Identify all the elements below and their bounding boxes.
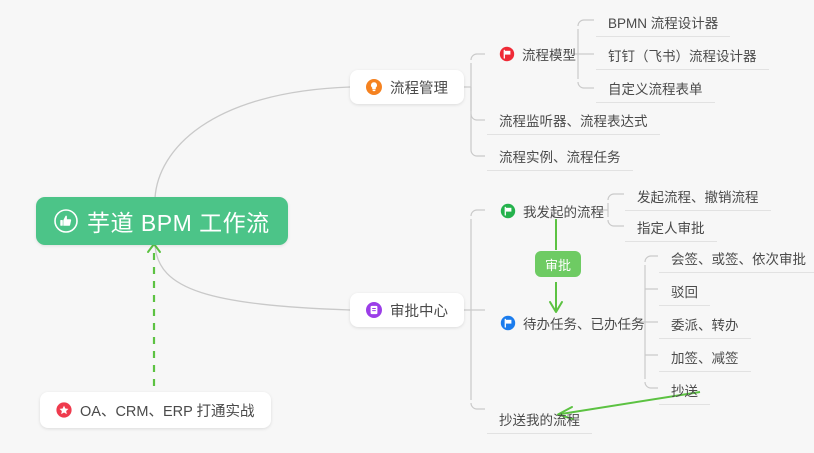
thumbs-up-icon (54, 209, 78, 233)
clipboard-icon (366, 302, 382, 318)
node-todo-done-tasks[interactable]: 待办任务、已办任务 (488, 308, 657, 338)
leaf-label: 钉钉（飞书）流程设计器 (608, 45, 757, 65)
node-label: 我发起的流程 (523, 201, 604, 221)
leaf-cc[interactable]: 抄送 (659, 375, 710, 405)
floating-node-label: OA、CRM、ERP 打通实战 (80, 400, 255, 421)
leaf-add-remove-sign[interactable]: 加签、减签 (659, 342, 751, 372)
flag-icon (500, 203, 516, 219)
node-process-instance[interactable]: 流程实例、流程任务 (487, 141, 633, 171)
node-label: 流程模型 (522, 44, 576, 64)
mindmap-canvas: 芋道 BPM 工作流 流程管理 流程模型 BPMN 流程设计器 钉钉（飞书）流程… (0, 0, 814, 453)
leaf-delegate-transfer[interactable]: 委派、转办 (659, 309, 751, 339)
leaf-start-cancel-process[interactable]: 发起流程、撤销流程 (625, 181, 771, 211)
floating-node-oa-crm-erp[interactable]: OA、CRM、ERP 打通实战 (40, 392, 271, 428)
badge-label: 审批 (545, 255, 571, 274)
leaf-countersign[interactable]: 会签、或签、依次审批 (659, 243, 814, 273)
leaf-label: 加签、减签 (671, 347, 739, 367)
node-process-model[interactable]: 流程模型 (487, 39, 588, 69)
leaf-custom-form[interactable]: 自定义流程表单 (596, 73, 715, 103)
node-label: 待办任务、已办任务 (523, 313, 645, 333)
flag-icon (499, 46, 515, 62)
flag-icon (500, 315, 516, 331)
leaf-label: 驳回 (671, 281, 698, 301)
node-cc-to-me[interactable]: 抄送我的流程 (487, 404, 592, 434)
leaf-label: 自定义流程表单 (608, 78, 703, 98)
leaf-assigned-approval[interactable]: 指定人审批 (625, 212, 717, 242)
leaf-label: BPMN 流程设计器 (608, 12, 718, 32)
branch-node-process-management[interactable]: 流程管理 (350, 70, 464, 104)
star-icon (56, 402, 72, 418)
leaf-label: 抄送 (671, 380, 698, 400)
lightbulb-icon (366, 79, 382, 95)
leaf-label: 会签、或签、依次审批 (671, 248, 806, 268)
leaf-reject[interactable]: 驳回 (659, 276, 710, 306)
leaf-label: 指定人审批 (637, 217, 705, 237)
node-label: 流程监听器、流程表达式 (499, 110, 648, 130)
leaf-bpmn-designer[interactable]: BPMN 流程设计器 (596, 7, 730, 37)
branch-node-approval-center[interactable]: 审批中心 (350, 293, 464, 327)
root-label: 芋道 BPM 工作流 (87, 204, 270, 238)
node-label: 流程实例、流程任务 (499, 146, 621, 166)
node-my-initiated[interactable]: 我发起的流程 (488, 196, 616, 226)
leaf-label: 委派、转办 (671, 314, 739, 334)
branch-label: 审批中心 (390, 300, 448, 321)
node-process-listener[interactable]: 流程监听器、流程表达式 (487, 105, 660, 135)
root-node[interactable]: 芋道 BPM 工作流 (36, 197, 288, 245)
branch-label: 流程管理 (390, 77, 448, 98)
leaf-label: 发起流程、撤销流程 (637, 186, 759, 206)
approval-badge[interactable]: 审批 (535, 251, 581, 277)
node-label: 抄送我的流程 (499, 409, 580, 429)
leaf-dingtalk-designer[interactable]: 钉钉（飞书）流程设计器 (596, 40, 769, 70)
